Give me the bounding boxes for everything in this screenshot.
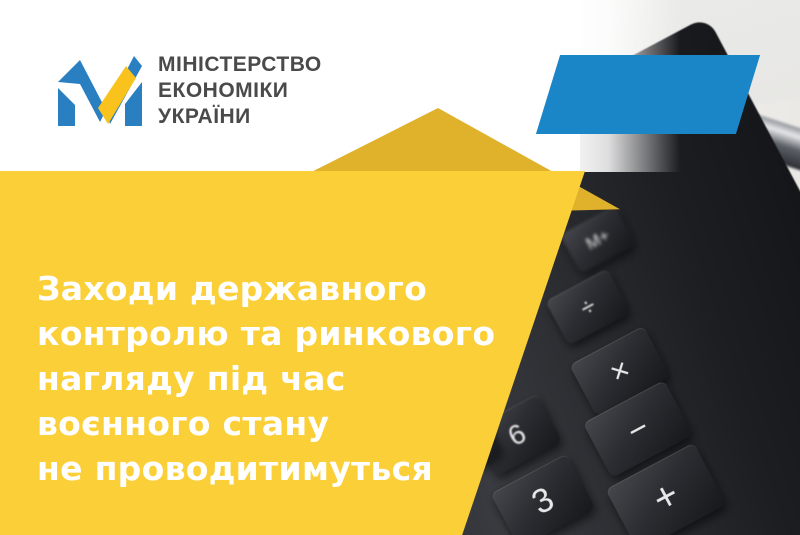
headline-line-3: нагляду під час [37, 356, 557, 401]
headline-line-1: Заходи державного [37, 266, 557, 311]
ministry-logo: МІНІСТЕРСТВО ЕКОНОМІКИ УКРАЇНИ [58, 52, 322, 130]
ministry-m-logo-icon [58, 52, 142, 130]
poster-banner: € € € € € M+ ÷ × − + 6 3 0 [0, 0, 800, 535]
logo-line-2: ЕКОНОМІКИ [158, 78, 322, 104]
headline: Заходи державного контролю та ринкового … [37, 266, 557, 491]
headline-line-4: воєнного стану [37, 401, 557, 446]
ministry-logo-text: МІНІСТЕРСТВО ЕКОНОМІКИ УКРАЇНИ [158, 52, 322, 130]
logo-line-3: УКРАЇНИ [158, 104, 322, 130]
blue-accent-bar [536, 55, 760, 134]
headline-line-2: контролю та ринкового [37, 311, 557, 356]
logo-line-1: МІНІСТЕРСТВО [158, 52, 322, 78]
headline-line-5: не проводитимуться [37, 446, 557, 491]
